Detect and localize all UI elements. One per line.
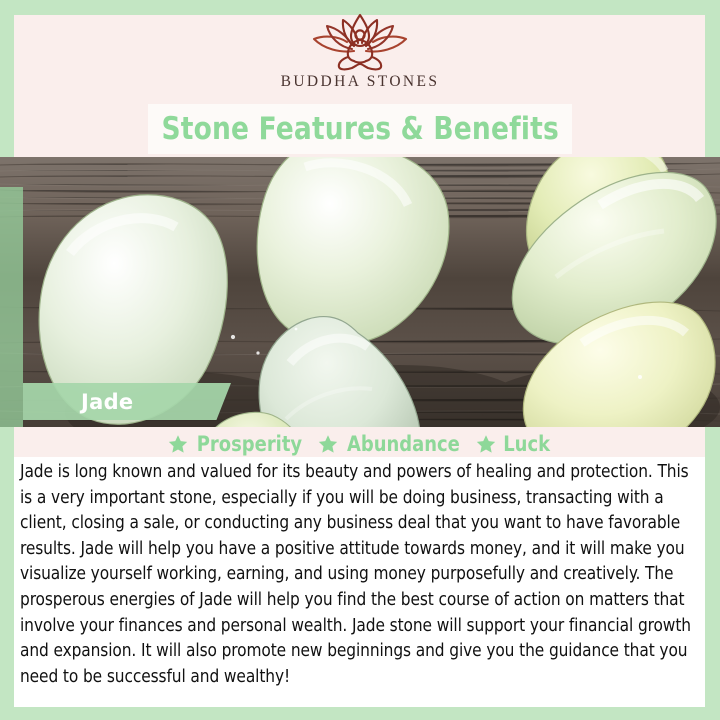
brand-name: BUDDHA STONES bbox=[281, 73, 440, 91]
stone-name-banner: Jade bbox=[23, 383, 231, 420]
description-panel: Jade is long known and valued for its be… bbox=[14, 457, 705, 707]
lotus-meditation-icon bbox=[304, 13, 416, 71]
brand-header: BUDDHA STONES bbox=[0, 0, 720, 105]
star-icon bbox=[476, 434, 496, 454]
benefit-abundance: Abundance bbox=[318, 432, 463, 456]
benefits-row: Prosperity Abundance Luck bbox=[14, 430, 705, 458]
star-icon bbox=[318, 434, 338, 454]
benefit-prosperity: Prosperity bbox=[168, 432, 305, 456]
benefit-label: Luck bbox=[503, 432, 550, 456]
star-icon bbox=[168, 434, 188, 454]
benefit-label: Prosperity bbox=[197, 432, 302, 456]
stone-name-label: Jade bbox=[81, 390, 133, 414]
page-title: Stone Features & Benefits bbox=[161, 111, 558, 147]
poster-root: BUDDHA STONES Stone Features & Benefits bbox=[0, 0, 720, 720]
description-text: Jade is long known and valued for its be… bbox=[20, 460, 696, 690]
benefit-luck: Luck bbox=[476, 432, 551, 456]
benefit-label: Abundance bbox=[347, 432, 460, 456]
title-banner: Stone Features & Benefits bbox=[148, 104, 572, 154]
